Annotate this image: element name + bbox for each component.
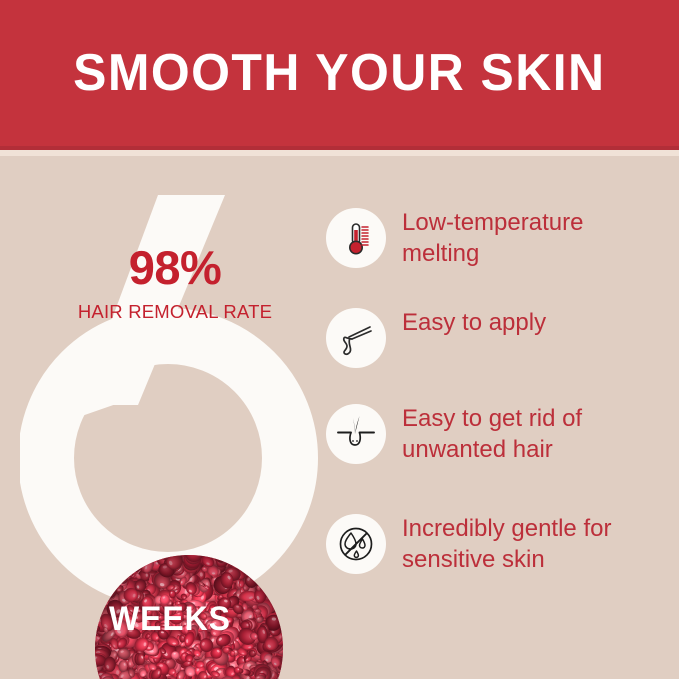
header-banner: SMOOTH YOUR SKIN xyxy=(0,0,679,150)
feature-label: Easy to apply xyxy=(402,308,671,339)
weeks-label: WEEKS xyxy=(29,602,311,636)
feature-label-line2: sensitive skin xyxy=(402,545,671,576)
banner-underline xyxy=(0,150,679,156)
feature-label-line1: Easy to apply xyxy=(402,308,671,339)
poster-root: SMOOTH YOUR SKIN 98% HAIR REMOVAL RATE W… xyxy=(0,0,679,679)
feature-label-line1: Easy to get rid of xyxy=(402,404,671,435)
page-title: SMOOTH YOUR SKIN xyxy=(73,47,605,99)
feature-label: Low-temperature melting xyxy=(402,208,671,269)
feature-item-sensitive-skin: Incredibly gentle for sensitive skin xyxy=(326,514,671,575)
feature-label-line1: Low-temperature xyxy=(402,208,671,239)
feature-label: Easy to get rid of unwanted hair xyxy=(402,404,671,465)
hair-removal-rate-caption: HAIR REMOVAL RATE xyxy=(40,303,310,322)
feature-item-low-temperature: Low-temperature melting xyxy=(326,208,671,269)
feature-item-easy-to-apply: Easy to apply xyxy=(326,308,671,368)
wax-applicator-icon xyxy=(326,308,386,368)
thermometer-icon xyxy=(326,208,386,268)
feature-label: Incredibly gentle for sensitive skin xyxy=(402,514,671,575)
no-irritation-icon xyxy=(326,514,386,574)
hair-follicle-icon xyxy=(326,404,386,464)
feature-label-line1: Incredibly gentle for xyxy=(402,514,671,545)
feature-label-line2: melting xyxy=(402,239,671,270)
feature-item-remove-hair: Easy to get rid of unwanted hair xyxy=(326,404,671,465)
feature-label-line2: unwanted hair xyxy=(402,435,671,466)
hair-removal-rate-value: 98% xyxy=(40,244,310,291)
